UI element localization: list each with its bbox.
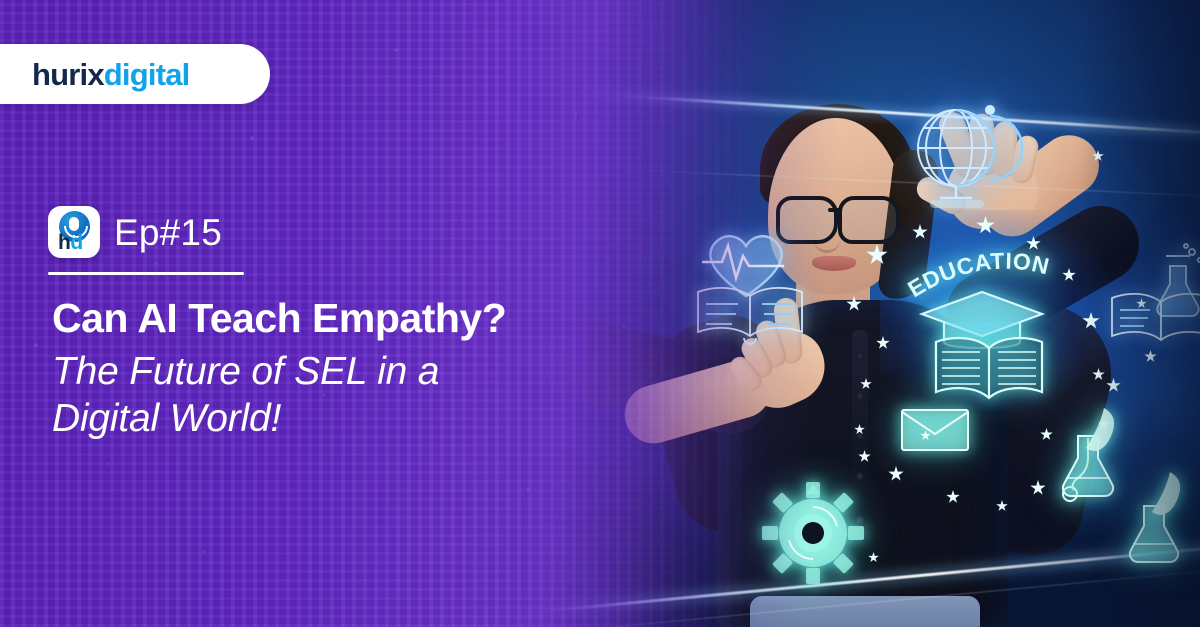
hd-h: h bbox=[58, 231, 70, 254]
headline-block: Can AI Teach Empathy? The Future of SEL … bbox=[52, 296, 652, 443]
brand-logo[interactable]: hurixdigital bbox=[0, 44, 270, 104]
podcast-mic-icon: hd bbox=[48, 206, 100, 258]
episode-divider-rule bbox=[48, 272, 244, 275]
headline-title: Can AI Teach Empathy? bbox=[52, 296, 652, 342]
episode-number: Ep#15 bbox=[114, 214, 222, 251]
headline-subtitle: The Future of SEL in a Digital World! bbox=[52, 348, 472, 443]
hd-monogram: hd bbox=[58, 232, 94, 253]
logo-digital-text: digital bbox=[104, 57, 190, 92]
logo-wordmark: hurixdigital bbox=[32, 59, 189, 90]
podcast-banner: EDUCATION hurixdigi bbox=[0, 0, 1200, 627]
logo-hurix-text: hurix bbox=[32, 57, 104, 92]
hd-d: d bbox=[70, 231, 82, 254]
episode-row: hd Ep#15 bbox=[48, 206, 222, 258]
